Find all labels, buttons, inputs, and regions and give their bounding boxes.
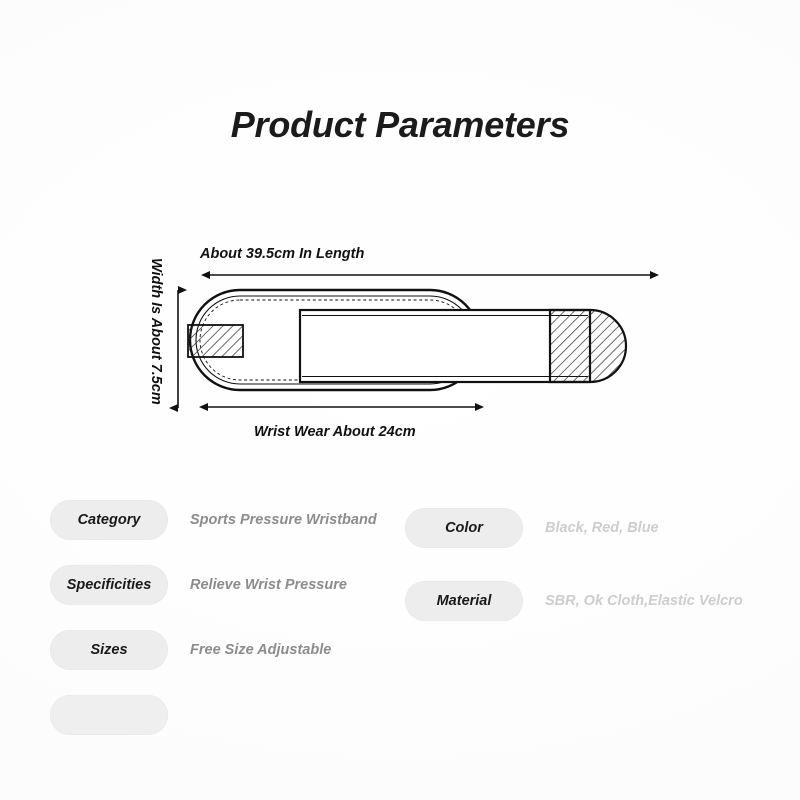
spec-row-empty bbox=[50, 693, 400, 736]
spec-row-sizes: Sizes Free Size Adjustable bbox=[50, 628, 400, 671]
page-title: Product Parameters bbox=[0, 104, 800, 146]
spec-label-category: Category bbox=[78, 512, 141, 528]
width-dimension-label: Width Is About 7.5cm bbox=[148, 258, 164, 405]
spec-row-specificities: Specificities Relieve Wrist Pressure bbox=[50, 563, 400, 606]
spec-row-category: Category Sports Pressure Wristband bbox=[50, 498, 400, 541]
spec-value-category: Sports Pressure Wristband bbox=[190, 512, 377, 528]
spec-value-sizes: Free Size Adjustable bbox=[190, 642, 331, 658]
spec-value-material: SBR, Ok Cloth,Elastic Velcro bbox=[545, 593, 743, 609]
specs-column-left: Category Sports Pressure Wristband Speci… bbox=[50, 498, 400, 758]
specs-column-right: Color Black, Red, Blue Material SBR, Ok … bbox=[405, 498, 785, 652]
length-dimension-label: About 39.5cm In Length bbox=[200, 246, 364, 262]
wrist-wear-dimension-label: Wrist Wear About 24cm bbox=[254, 424, 416, 440]
product-parameters-page: Product Parameters bbox=[0, 0, 800, 800]
velcro-tab-left bbox=[188, 325, 243, 357]
spec-label-sizes: Sizes bbox=[90, 642, 127, 658]
spec-pill-category: Category bbox=[50, 500, 168, 540]
spec-pill-material: Material bbox=[405, 581, 523, 621]
spec-pill-empty bbox=[50, 695, 168, 735]
spec-pill-specificities: Specificities bbox=[50, 565, 168, 605]
velcro-cap-right bbox=[550, 310, 626, 382]
specifications-table: Category Sports Pressure Wristband Speci… bbox=[0, 498, 800, 768]
spec-value-color: Black, Red, Blue bbox=[545, 520, 659, 536]
spec-pill-sizes: Sizes bbox=[50, 630, 168, 670]
spec-row-material: Material SBR, Ok Cloth,Elastic Velcro bbox=[405, 579, 785, 622]
spec-value-specificities: Relieve Wrist Pressure bbox=[190, 577, 347, 593]
wristband-strap bbox=[300, 310, 590, 382]
spec-pill-color: Color bbox=[405, 508, 523, 548]
spec-row-color: Color Black, Red, Blue bbox=[405, 506, 785, 549]
spec-label-material: Material bbox=[437, 593, 492, 609]
spec-label-color: Color bbox=[445, 520, 483, 536]
spec-label-specificities: Specificities bbox=[67, 577, 152, 593]
